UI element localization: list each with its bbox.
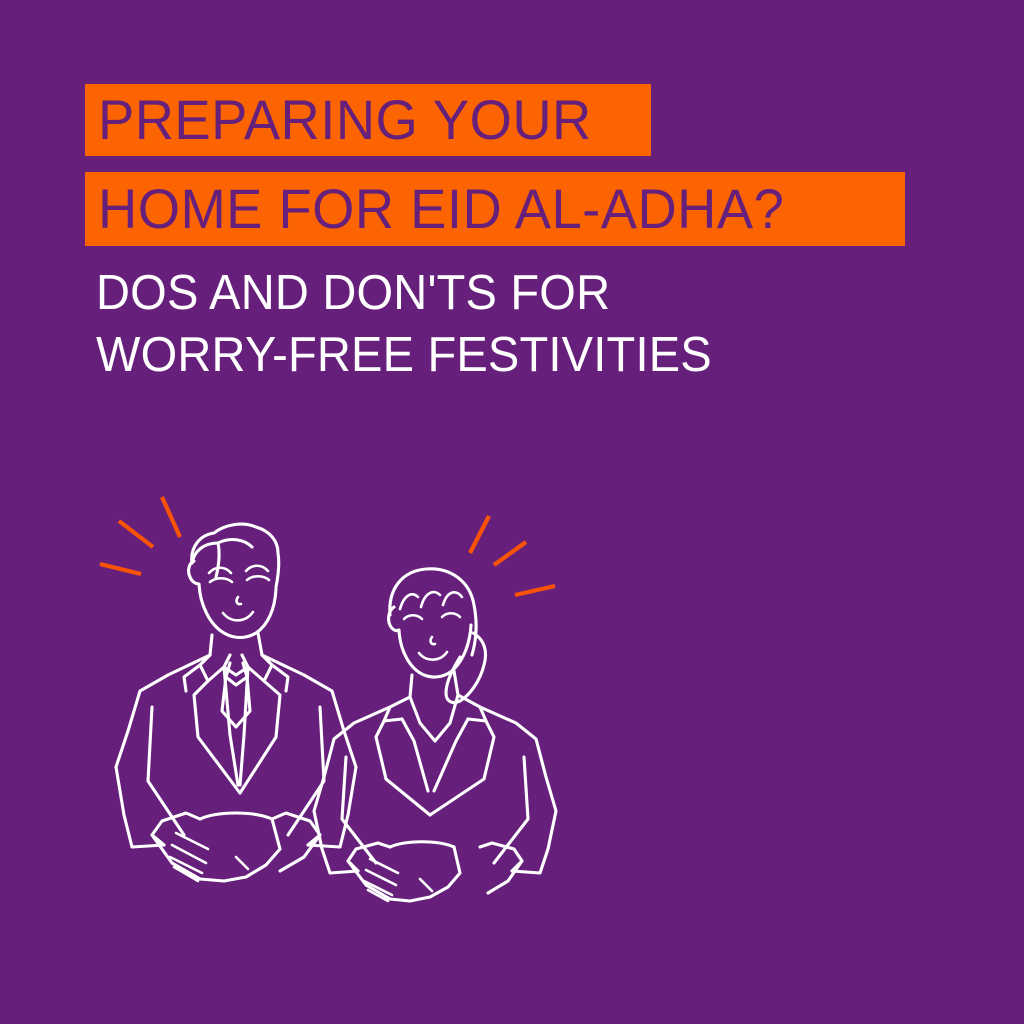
headline-line-2: HOME FOR EID AL-ADHA? <box>98 181 784 237</box>
woman-bangs <box>400 592 462 609</box>
figure-woman <box>314 569 556 901</box>
headline-line-1: PREPARING YOUR <box>98 92 592 148</box>
man-nose <box>237 597 241 604</box>
woman-hair-outline <box>390 569 476 655</box>
man-mouth <box>223 612 253 620</box>
woman-blazer <box>324 695 546 815</box>
woman-ponytail <box>446 633 486 703</box>
sparkle-rays-woman <box>470 516 555 595</box>
subtitle-block: DOS AND DON'TS FOR WORRY-FREE FESTIVITIE… <box>96 262 956 386</box>
man-collar <box>200 633 272 681</box>
man-face-outline <box>189 561 276 638</box>
people-illustration <box>90 485 590 915</box>
subtitle-line-1: DOS AND DON'TS FOR <box>96 262 922 324</box>
sparkle-rays-man <box>100 497 180 574</box>
woman-clasped-hands <box>348 842 522 901</box>
subtitle-line-2: WORRY-FREE FESTIVITIES <box>96 324 922 386</box>
woman-mouth <box>419 652 447 660</box>
headline-highlight-bar-1: PREPARING YOUR <box>85 84 651 156</box>
woman-nose <box>431 637 435 644</box>
poster-canvas: PREPARING YOUR HOME FOR EID AL-ADHA? DOS… <box>0 0 1024 1024</box>
figure-man <box>116 524 356 881</box>
woman-eyes <box>404 613 460 619</box>
headline-highlight-bar-2: HOME FOR EID AL-ADHA? <box>85 172 905 246</box>
